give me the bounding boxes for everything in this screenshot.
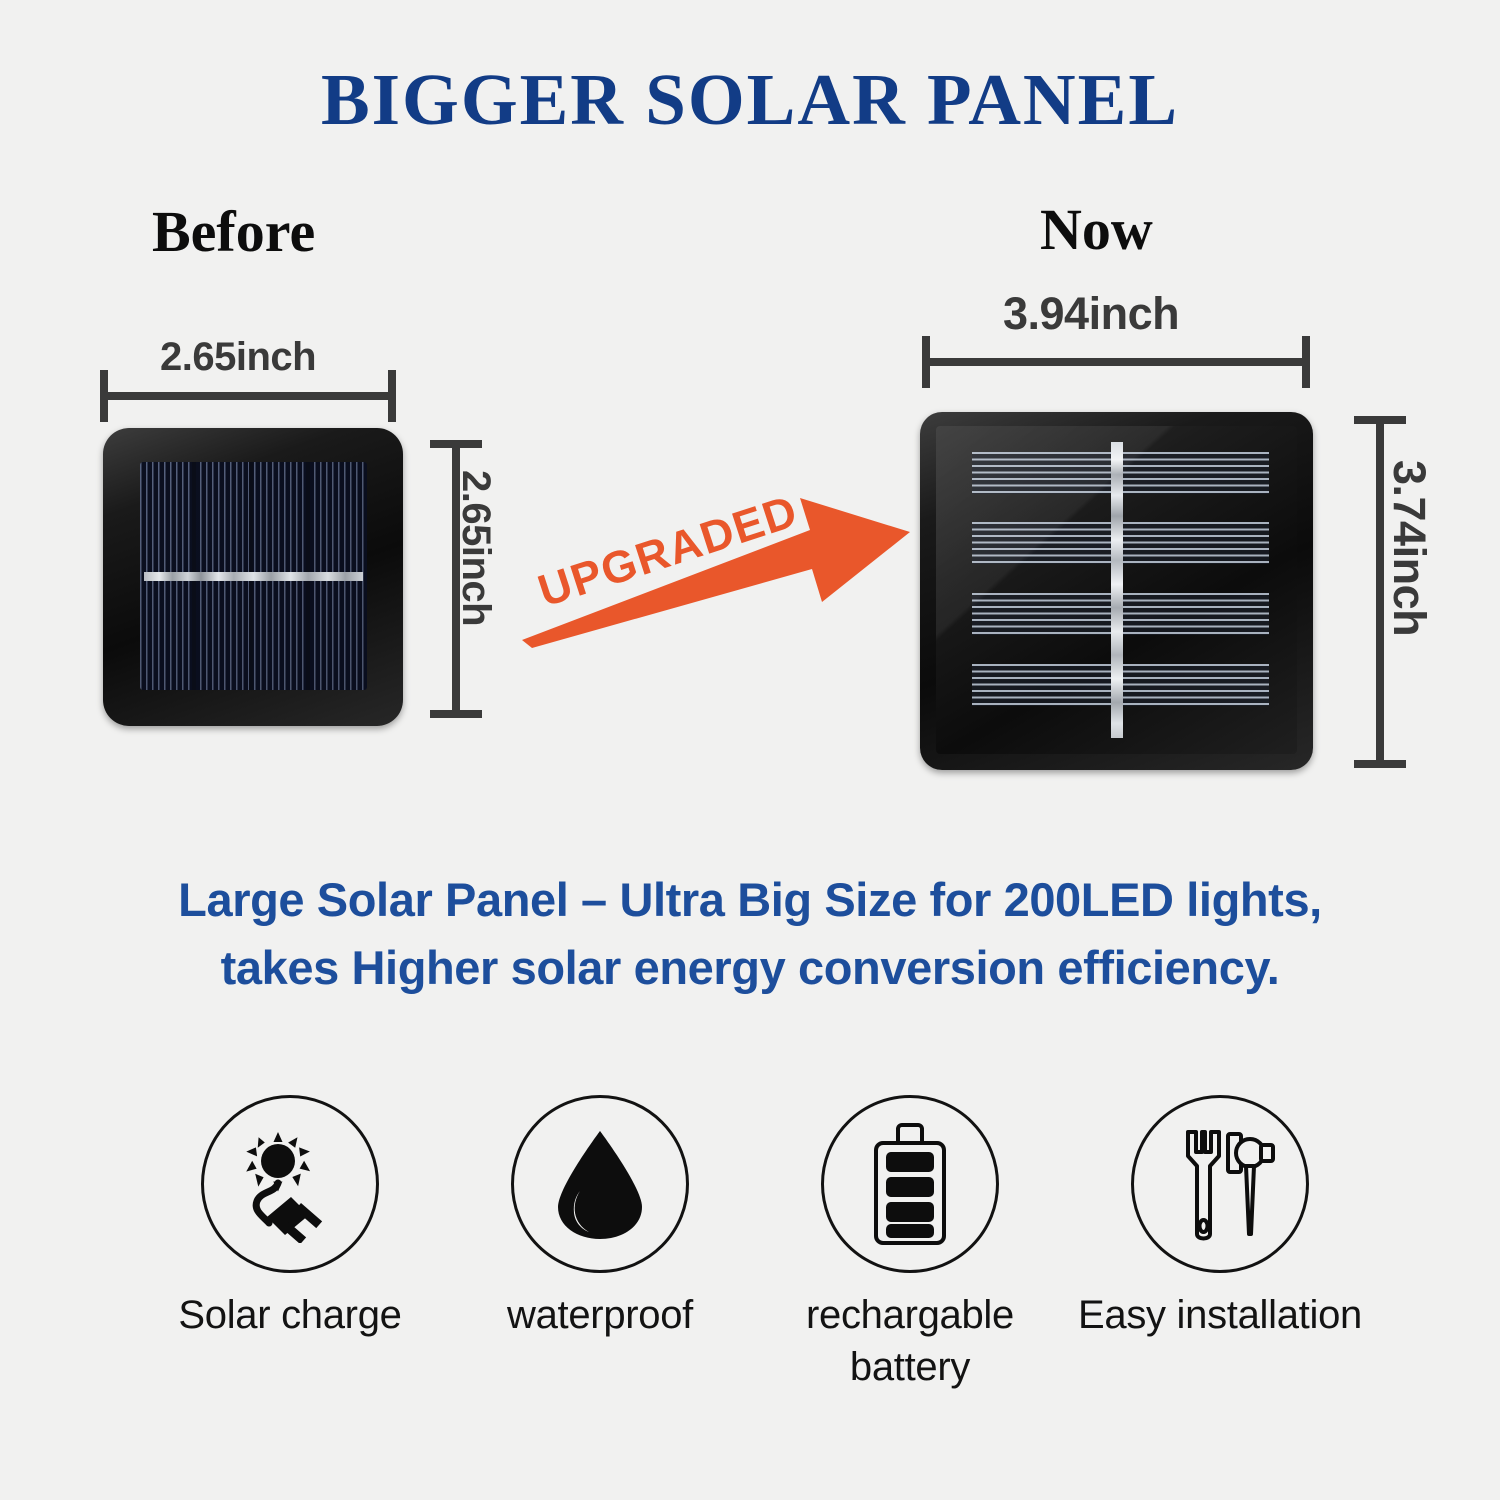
description-line-1: Large Solar Panel – Ultra Big Size for 2… [0,866,1500,934]
now-panel-cells [936,426,1297,754]
feature-icon-circle [1131,1095,1309,1273]
feature-list: Solar charge waterproof [140,1095,1370,1393]
feature-label-line-2: battery [850,1345,970,1389]
feature-label: waterproof [507,1289,693,1341]
description-text: Large Solar Panel – Ultra Big Size for 2… [0,866,1500,1002]
before-height-dimension-line [452,440,460,718]
description-line-2: takes Higher solar energy conversion eff… [0,934,1500,1002]
feature-icon-circle [201,1095,379,1273]
battery-icon [862,1122,958,1246]
upgraded-arrow: UPGRADED [510,470,920,660]
before-panel-cells [140,462,367,690]
feature-label: Solar charge [178,1289,401,1341]
now-width-dimension-line [922,358,1310,366]
now-heading: Now [1040,196,1153,263]
feature-rechargable-battery: rechargable battery [760,1095,1060,1393]
feature-waterproof: waterproof [450,1095,750,1393]
feature-icon-circle [511,1095,689,1273]
before-panel-busbar [144,572,363,581]
feature-label-line-1: rechargable [806,1293,1014,1337]
feature-solar-charge: Solar charge [140,1095,440,1393]
feature-icon-circle [821,1095,999,1273]
feature-label: rechargable battery [806,1289,1014,1393]
now-panel-busbar [1111,442,1123,738]
now-width-label: 3.94inch [1003,288,1179,340]
infographic-page: BIGGER SOLAR PANEL Before 2.65inch 2.65i… [0,0,1500,1500]
water-drop-icon [544,1125,656,1243]
page-title: BIGGER SOLAR PANEL [0,58,1500,142]
wrench-hammer-icon [1162,1122,1278,1246]
before-width-label: 2.65inch [160,335,316,380]
feature-easy-installation: Easy installation [1070,1095,1370,1393]
before-solar-panel-image [103,428,403,726]
feature-label: Easy installation [1078,1289,1362,1341]
before-width-dimension-line [100,392,396,400]
now-height-label: 3.74inch [1383,460,1435,636]
now-solar-panel-image [920,412,1313,770]
solar-plug-icon [231,1125,349,1243]
now-height-dimension-line [1376,416,1384,768]
before-heading: Before [152,198,315,265]
